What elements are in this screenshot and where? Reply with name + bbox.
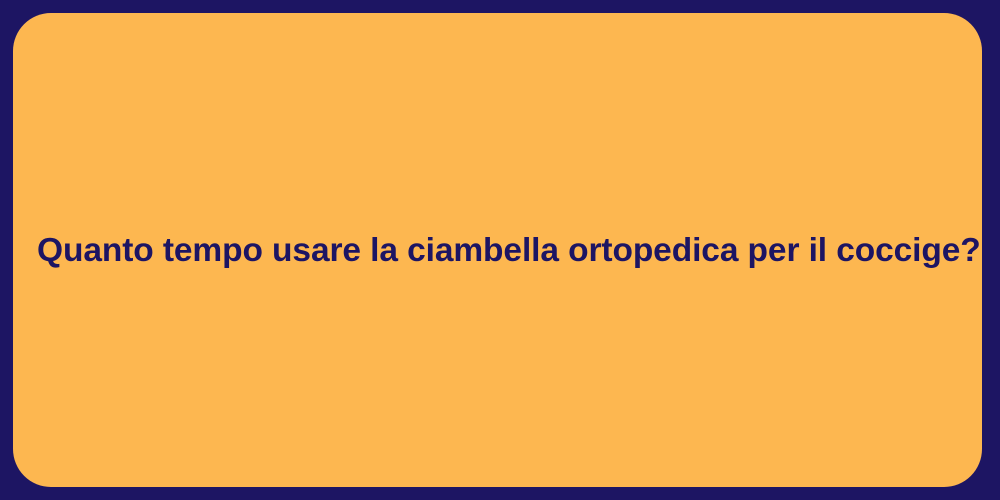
headline-question: Quanto tempo usare la ciambella ortopedi…	[13, 231, 982, 271]
content-card: Quanto tempo usare la ciambella ortopedi…	[13, 13, 982, 487]
page-canvas: Quanto tempo usare la ciambella ortopedi…	[0, 0, 1000, 500]
